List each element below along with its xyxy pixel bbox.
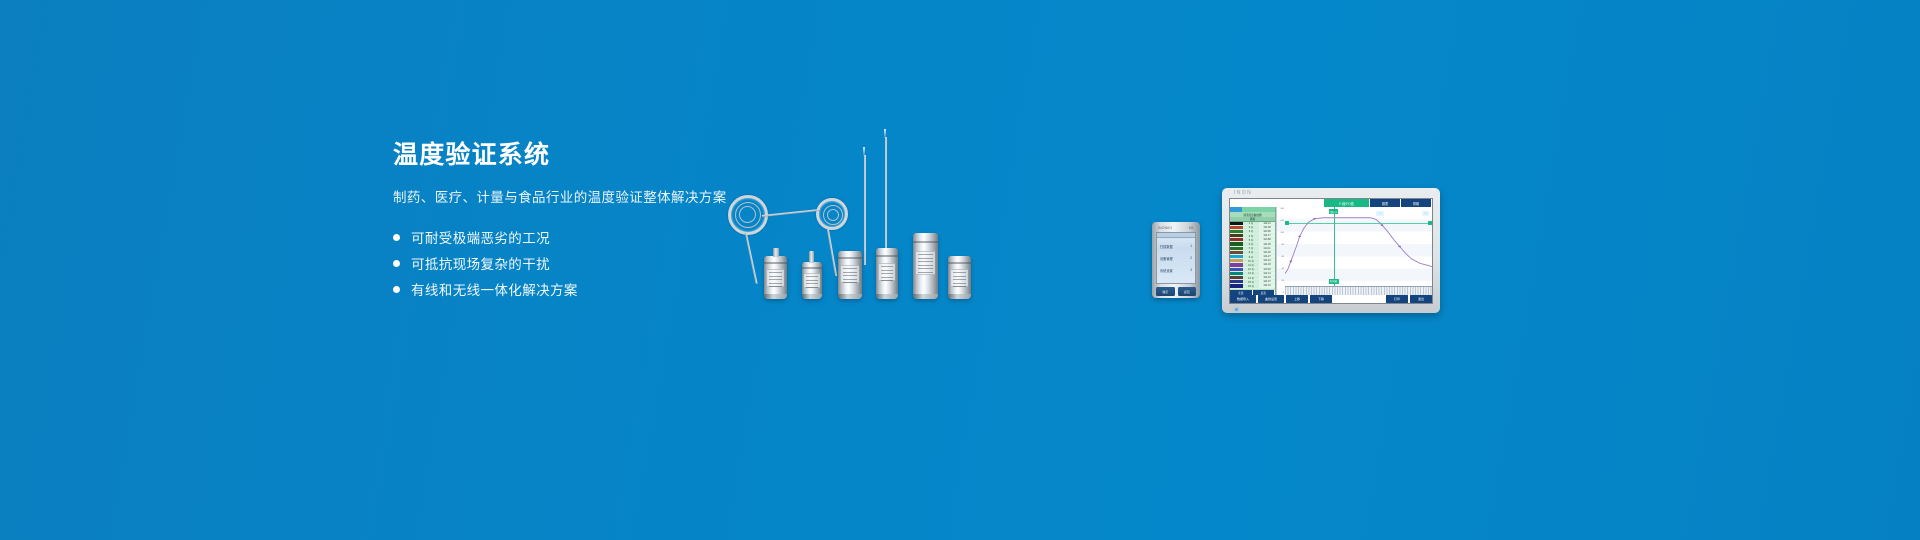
bullet-dot-icon <box>393 286 400 293</box>
channel-color-swatch <box>1230 284 1243 287</box>
channel-id: 7 号 <box>1243 247 1259 250</box>
channel-id: 9 号 <box>1243 255 1259 258</box>
coiled-cable-icon <box>816 198 848 230</box>
channel-id: 6 号 <box>1243 242 1259 245</box>
x-axis-scrollbar[interactable] <box>1285 286 1432 295</box>
channel-value: 124.03 <box>1259 263 1275 266</box>
curve-settings-button[interactable]: 曲线设置 <box>1258 295 1284 303</box>
channel-value: 123.96 <box>1259 230 1275 233</box>
power-led-icon <box>1235 308 1238 311</box>
channel-id: 15 号 <box>1243 280 1259 283</box>
channel-value: 124.14 <box>1259 272 1275 275</box>
product-photo-group <box>720 120 1220 320</box>
tab-fvalue[interactable]: F-值/FO值 <box>1324 199 1370 207</box>
move-down-button[interactable]: 下移 <box>1310 295 1332 303</box>
hero-banner: 温度验证系统 制药、医疗、计量与食品行业的温度验证整体解决方案 可耐受极端恶劣的… <box>0 0 1920 540</box>
y-tick-label: 120 <box>1277 220 1285 222</box>
channel-color-swatch <box>1230 238 1243 241</box>
handheld-reader-device: INONIKI M1 扫描数据 1 设备管理 2 系统设置 3 确定 返回 <box>1152 222 1200 298</box>
exit-button[interactable]: 退出 <box>1410 295 1432 303</box>
move-up-button[interactable]: 上移 <box>1286 295 1308 303</box>
needle-tip-icon <box>884 129 886 139</box>
handheld-brand-label: INONIKI <box>1158 226 1172 230</box>
channel-id: 8 号 <box>1243 251 1259 254</box>
channel-value: 123.88 <box>1259 238 1275 241</box>
channel-id: 14 号 <box>1243 276 1259 279</box>
channel-color-swatch <box>1230 280 1243 283</box>
channel-value: 124.21 <box>1259 222 1275 225</box>
needle-tip-icon <box>863 147 865 157</box>
feature-label: 可抵抗现场复杂的干扰 <box>411 253 550 273</box>
channel-value: 124.17 <box>1259 234 1275 237</box>
channel-id: 12 号 <box>1243 268 1259 271</box>
import-data-button[interactable]: 数据导入 <box>1230 295 1256 303</box>
y-axis: 140 120 100 80 60 40 20 0 <box>1277 207 1285 295</box>
channel-color-swatch <box>1230 234 1243 237</box>
channel-id: 2 号 <box>1243 226 1259 229</box>
desktop-monitor: INON F-值/FO值 报表 帮助 通道温度曲线图 通道 <box>1222 188 1440 313</box>
handheld-screen: 扫描数据 1 设备管理 2 系统设置 3 <box>1156 232 1196 284</box>
handheld-titlebar <box>1157 233 1195 238</box>
channel-legend-panel: 通道温度曲线图 通道 1 号 124.21 2 号 124.08 3 <box>1230 207 1276 295</box>
y-tick-label: 60 <box>1277 256 1285 258</box>
handheld-ok-button[interactable]: 确定 <box>1156 287 1175 296</box>
handheld-menu-item[interactable]: 系统设置 3 <box>1157 267 1195 274</box>
handheld-menu-label: 设备管理 <box>1160 256 1173 261</box>
handheld-menu-label: 扫描数据 <box>1160 244 1173 249</box>
channel-value: 124.11 <box>1259 247 1275 250</box>
channel-id: 3 号 <box>1243 230 1259 233</box>
channel-value: 124.22 <box>1259 276 1275 279</box>
channel-id: 13 号 <box>1243 272 1259 275</box>
needle-probe-icon <box>864 155 866 265</box>
handheld-menu-index: 2 <box>1190 256 1192 261</box>
logger-neck-icon <box>809 251 814 263</box>
monitor-brand-label: INON <box>1234 190 1252 196</box>
channel-color-swatch <box>1230 268 1243 271</box>
needle-probe-icon <box>885 137 887 265</box>
handheld-menu-index: 1 <box>1190 244 1192 249</box>
tab-report[interactable]: 报表 <box>1370 199 1401 207</box>
list-item <box>764 256 787 299</box>
channel-color-swatch <box>1230 230 1243 233</box>
y-tick-label: 0 <box>1277 292 1285 294</box>
y-tick-label: 40 <box>1277 268 1285 270</box>
channel-value: 124.00 <box>1259 251 1275 254</box>
bullet-dot-icon <box>393 234 400 241</box>
temperature-curve <box>1285 207 1432 286</box>
channel-id: 1 号 <box>1243 222 1259 225</box>
cable-icon <box>745 233 757 284</box>
channel-color-swatch <box>1230 272 1243 275</box>
channel-color-swatch <box>1230 276 1243 279</box>
bullet-dot-icon <box>393 260 400 267</box>
channel-id: 10 号 <box>1243 259 1259 262</box>
print-button[interactable]: 打印 <box>1386 295 1408 303</box>
channel-color-swatch <box>1230 251 1243 254</box>
software-screen: F-值/FO值 报表 帮助 通道温度曲线图 通道 1 号 124.21 <box>1229 198 1433 304</box>
channel-id: 11 号 <box>1243 263 1259 266</box>
channel-value: 124.08 <box>1259 226 1275 229</box>
channel-value: 124.19 <box>1259 259 1275 262</box>
channel-value: 124.07 <box>1259 280 1275 283</box>
channel-color-swatch <box>1230 226 1243 229</box>
y-tick-label: 100 <box>1277 232 1285 234</box>
table-row[interactable]: 16 号 124.31 <box>1230 284 1275 288</box>
y-tick-label: 140 <box>1277 208 1285 210</box>
software-body: 通道温度曲线图 通道 1 号 124.21 2 号 124.08 3 <box>1230 207 1432 295</box>
list-item <box>802 262 822 299</box>
channel-color-swatch <box>1230 247 1243 250</box>
plot-area: 游标 A 时间轴 上限 下限 <box>1285 207 1432 286</box>
feature-label: 可耐受极端恶劣的工况 <box>411 227 550 247</box>
channel-value: 124.27 <box>1259 255 1275 258</box>
handheld-menu-index: 3 <box>1190 268 1192 273</box>
tab-help[interactable]: 帮助 <box>1401 199 1432 207</box>
list-item <box>913 233 938 299</box>
channel-id: 4 号 <box>1243 234 1259 237</box>
channel-value: 124.05 <box>1259 242 1275 245</box>
temperature-chart: 140 120 100 80 60 40 20 0 <box>1276 207 1432 295</box>
channel-id: 16 号 <box>1243 284 1259 287</box>
handheld-menu-item[interactable]: 设备管理 2 <box>1157 255 1195 262</box>
cable-icon <box>762 209 820 217</box>
list-item <box>948 256 971 299</box>
channel-value: 123.91 <box>1259 268 1275 271</box>
software-toolbar: F-值/FO值 报表 帮助 <box>1230 199 1432 207</box>
logger-neck-icon <box>773 248 779 257</box>
feature-label: 有线和无线一体化解决方案 <box>411 279 578 299</box>
channel-id: 5 号 <box>1243 238 1259 241</box>
handheld-menu-item[interactable]: 扫描数据 1 <box>1157 243 1195 250</box>
channel-color-swatch <box>1230 255 1243 258</box>
list-item <box>838 251 862 299</box>
list-item <box>876 248 898 299</box>
y-tick-label: 20 <box>1277 280 1285 282</box>
channel-color-swatch <box>1230 263 1243 266</box>
channel-color-swatch <box>1230 222 1243 225</box>
channel-color-swatch <box>1230 259 1243 262</box>
handheld-keypad: 确定 返回 <box>1156 287 1196 296</box>
cable-icon <box>827 229 837 277</box>
y-tick-label: 80 <box>1277 244 1285 246</box>
handheld-back-button[interactable]: 返回 <box>1178 287 1197 296</box>
software-bottom-toolbar: 数据导入 曲线设置 上移 下移 打印 退出 <box>1230 295 1432 303</box>
handheld-model-label: M1 <box>1189 226 1194 230</box>
channel-color-swatch <box>1230 242 1243 245</box>
channel-value: 124.31 <box>1259 284 1275 287</box>
handheld-menu-label: 系统设置 <box>1160 268 1173 273</box>
